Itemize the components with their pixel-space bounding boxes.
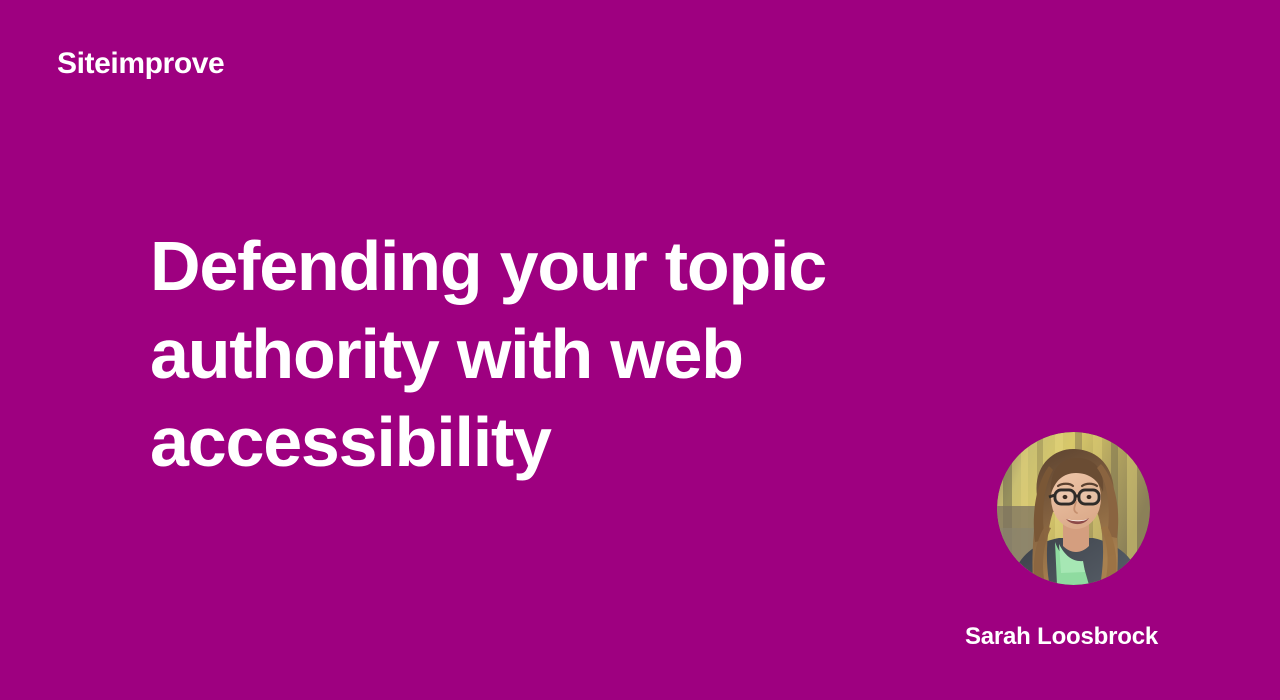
speaker-avatar-photo: [997, 432, 1150, 585]
page-title: Defending your topic authority with web …: [150, 222, 1010, 486]
speaker-avatar: [997, 432, 1150, 585]
page-title-line-2: authority with web: [150, 310, 1010, 398]
page-title-line-1: Defending your topic: [150, 222, 1010, 310]
webinar-title-slide: Siteimprove Defending your topic authori…: [0, 0, 1280, 700]
speaker-name: Sarah Loosbrock: [860, 622, 1158, 652]
siteimprove-logo: Siteimprove: [57, 46, 224, 82]
page-title-line-3: accessibility: [150, 398, 1010, 486]
